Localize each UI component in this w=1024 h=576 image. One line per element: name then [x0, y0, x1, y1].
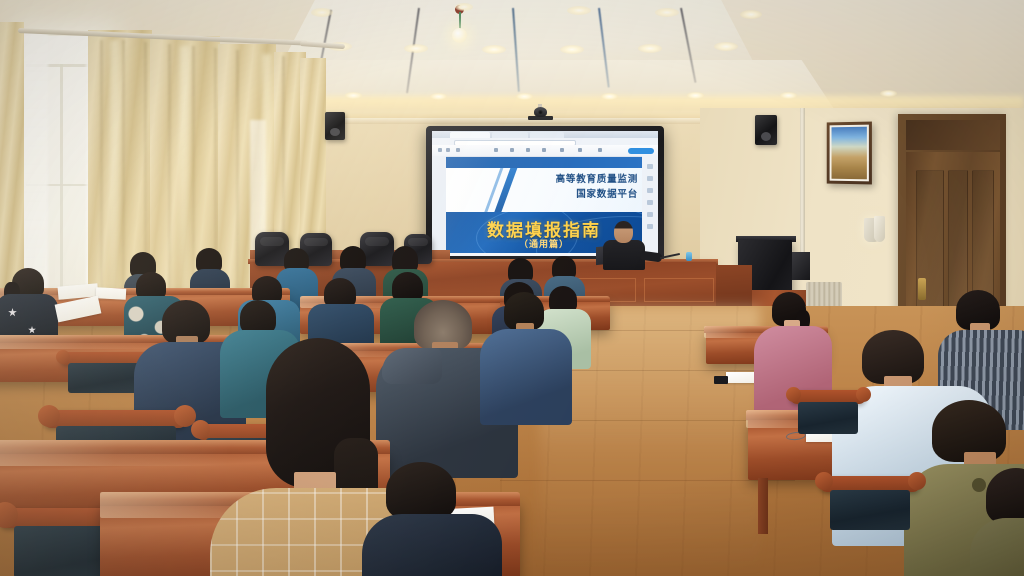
podium-diamond-detail	[644, 278, 714, 302]
handout-paper	[96, 287, 127, 300]
downlight	[567, 6, 591, 15]
door-transom	[906, 120, 1000, 150]
wall-speaker-left	[325, 112, 345, 140]
smartphone	[714, 376, 728, 384]
downlight	[880, 90, 897, 97]
app-left-panel[interactable]	[432, 156, 446, 256]
downlight	[687, 92, 704, 99]
framed-picture	[827, 122, 872, 185]
floor-seam	[545, 370, 760, 371]
wall-sconce	[874, 216, 885, 242]
toolbar-icon[interactable]	[510, 148, 514, 152]
toolbar-icon[interactable]	[542, 148, 546, 152]
toolbar-icon[interactable]	[560, 148, 564, 152]
toolbar-icon[interactable]	[578, 148, 582, 152]
toolbar-icon[interactable]	[526, 148, 530, 152]
conference-room-photo: 高等教育质量监测 国家数据平台 数据填报指南 （通用篇）	[0, 0, 1024, 576]
downlight	[638, 44, 662, 53]
downlight	[311, 8, 333, 17]
toolbar-primary-button[interactable]	[628, 148, 654, 154]
downlight	[455, 3, 473, 11]
door-handle[interactable]	[918, 278, 926, 300]
floor-seam	[500, 480, 795, 481]
downlight	[740, 10, 762, 19]
presenter-torso	[603, 240, 645, 270]
presentation-slide: 高等教育质量监测 国家数据平台 数据填报指南 （通用篇）	[446, 157, 642, 253]
downlight	[601, 93, 618, 100]
downlight	[560, 45, 584, 54]
downlight	[714, 42, 738, 51]
downlight	[780, 92, 797, 99]
app-right-panel[interactable]	[642, 156, 658, 256]
downlight	[482, 45, 506, 54]
toolbar-icon[interactable]	[598, 148, 602, 152]
toolbar-icon[interactable]	[438, 148, 442, 152]
downlight	[516, 93, 533, 100]
wall-speaker-right	[755, 115, 777, 145]
slide-top-band	[446, 157, 642, 168]
ceiling-pendant-bulb	[452, 28, 467, 43]
slide-header-text: 高等教育质量监测 国家数据平台	[520, 172, 638, 202]
desk-leg	[758, 478, 768, 534]
downlight	[430, 93, 447, 100]
downlight	[345, 92, 362, 99]
picture-mat	[830, 125, 869, 182]
downlight	[655, 8, 679, 17]
slide-header-line1: 高等教育质量监测	[520, 172, 638, 187]
water-bottle	[686, 252, 692, 261]
picture-artwork	[832, 127, 867, 180]
camera-lens-icon	[538, 110, 543, 115]
downlight	[404, 44, 428, 53]
toolbar-icon[interactable]	[456, 148, 460, 152]
presenter-head	[614, 221, 633, 243]
slide-header-line2: 国家数据平台	[520, 187, 638, 202]
floor-speaker	[792, 252, 810, 280]
toolbar-icon[interactable]	[446, 148, 450, 152]
toolbar-icon[interactable]	[494, 148, 498, 152]
